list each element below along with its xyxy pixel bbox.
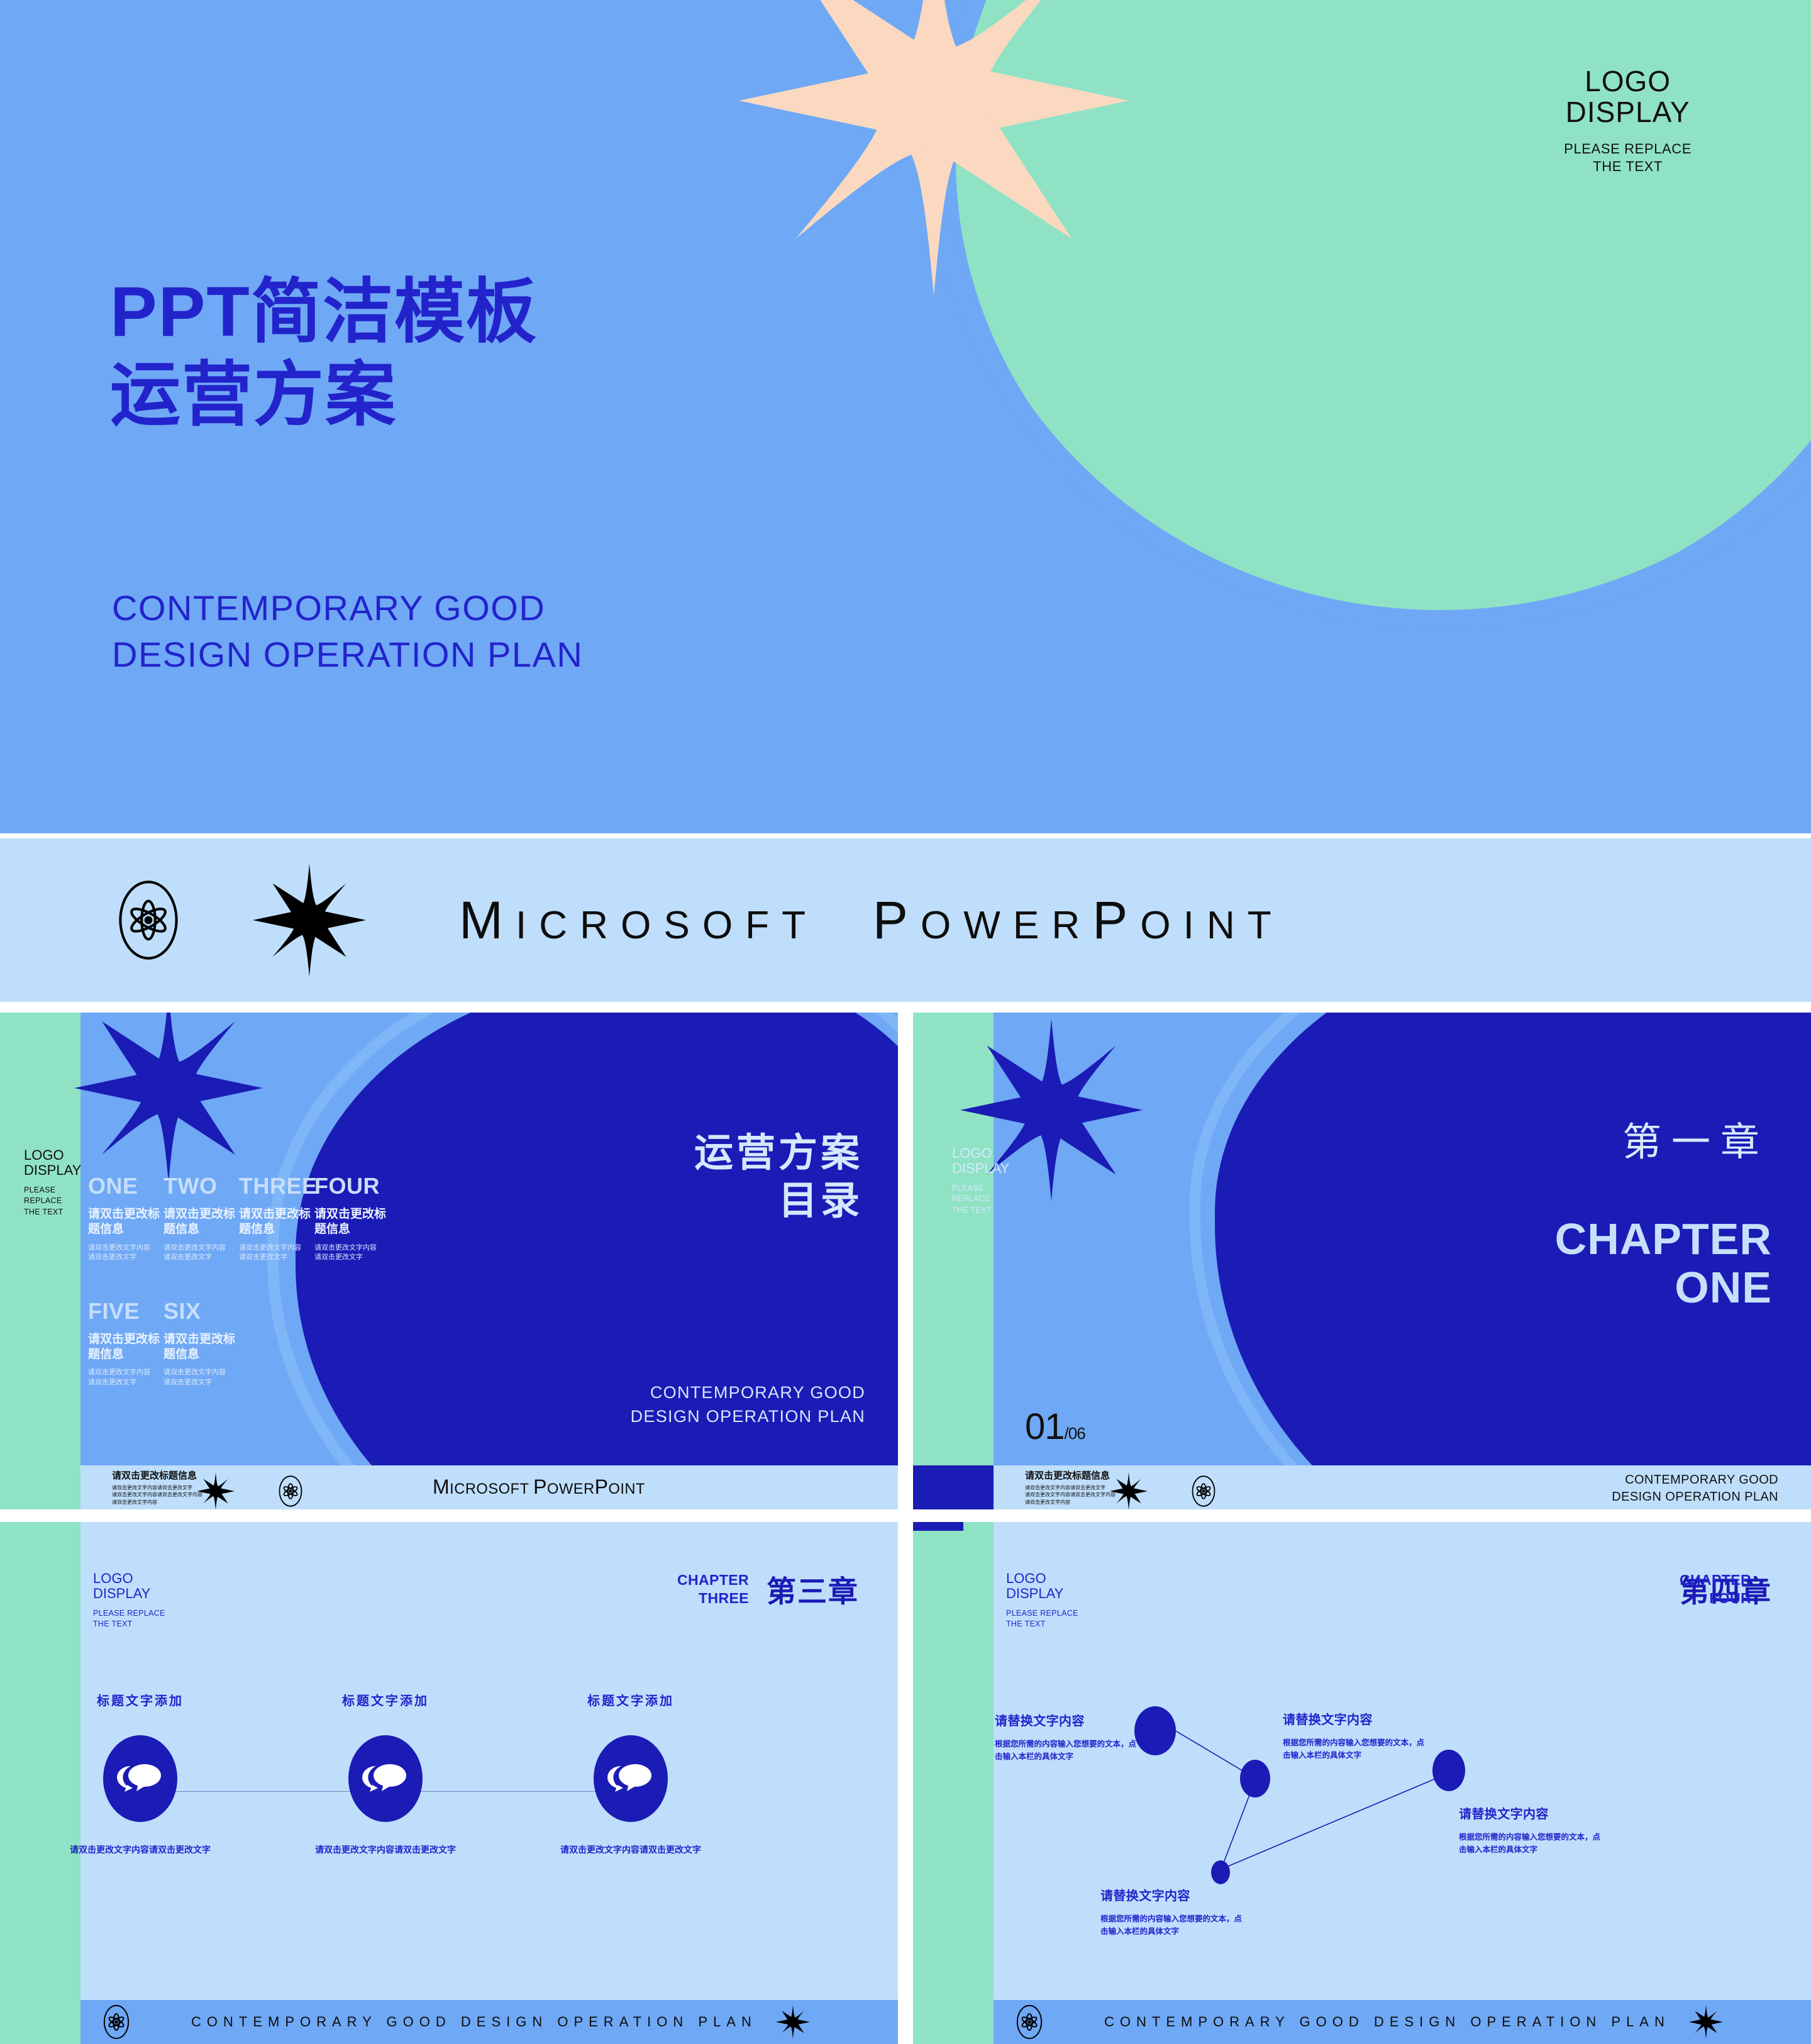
sparkle-icon [74, 1013, 263, 1182]
toc-row-2: FIVE 请双击更改标题信息 请双击更改文字内容 请双击更改文字 SIX 请双击… [88, 1298, 440, 1388]
toc-items: ONE 请双击更改标题信息 请双击更改文字内容 请双击更改文字 TWO 请双击更… [88, 1173, 440, 1388]
toc-item-desc1: 请双击更改文字内容 [239, 1243, 314, 1253]
sparkle-icon [739, 0, 1129, 296]
toc-title: 运营方案 目录 [694, 1130, 863, 1225]
hero-slide: LOGO DISPLAY PLEASE REPLACE THE TEXT PPT… [0, 0, 1811, 833]
toc-item-two[interactable]: TWO 请双击更改标题信息 请双击更改文字内容 请双击更改文字 [163, 1173, 239, 1263]
toc-item-title: 请双击更改标题信息 [88, 1207, 163, 1238]
ch1-footer-icons [1110, 1470, 1217, 1509]
ch1-footer-desc3: 请双击更改文字内容 [1025, 1499, 1116, 1506]
atom-icon [277, 1475, 304, 1508]
band-p2: P [1092, 891, 1140, 950]
node-title: 标题文字添加 [514, 1691, 747, 1709]
toc-row-1: ONE 请双击更改标题信息 请双击更改文字内容 请双击更改文字 TWO 请双击更… [88, 1173, 440, 1263]
ch4-node-title: 请替换文字内容 [995, 1711, 1139, 1729]
toc-item-number: THREE [239, 1173, 314, 1199]
toc-title-line2: 目录 [694, 1177, 863, 1225]
band-brand-text: MICROSOFT POWERPOINT [459, 890, 1284, 951]
network-node[interactable] [1134, 1706, 1176, 1755]
toc-item-title: 请双击更改标题信息 [239, 1207, 314, 1238]
ch1-logo-line2: DISPLAY [952, 1161, 1021, 1176]
toc-item-title: 请双击更改标题信息 [163, 1207, 239, 1238]
ch1-logo-sub2: THE TEXT [952, 1205, 1021, 1216]
timeline-node[interactable]: 标题文字添加 请双击更改文字内容请双击更改文字 [24, 1691, 257, 1857]
network-node[interactable] [1432, 1750, 1465, 1791]
toc-english-subtitle: CONTEMPORARY GOOD DESIGN OPERATION PLAN [631, 1380, 865, 1429]
sparkle-icon [253, 848, 366, 992]
sparkle-icon [1110, 1470, 1148, 1509]
network-caption: 请替换文字内容 根据您所需的内容输入您想要的文本，点击输入本栏的具体文字 [1100, 1886, 1245, 1938]
strip-text: CONTEMPORARY GOOD DESIGN OPERATION PLAN [1104, 2014, 1670, 2030]
toc-footer: 请双击更改标题信息 请双击更改文字内容请双击更改文字 请双击更改文字内容请双击更… [80, 1465, 898, 1509]
toc-item-title: 请双击更改标题信息 [88, 1332, 163, 1363]
ch1-footer-title: 请双击更改标题信息 [1025, 1469, 1116, 1482]
toc-logo-line2: DISPLAY [24, 1163, 87, 1178]
atom-icon [1190, 1475, 1217, 1508]
atom-icon [1015, 2004, 1044, 2040]
navy-corner-block [913, 1465, 994, 1509]
toc-item-five[interactable]: FIVE 请双击更改标题信息 请双击更改文字内容 请双击更改文字 [88, 1298, 163, 1388]
toc-eng-line2: DESIGN OPERATION PLAN [631, 1404, 865, 1428]
hero-logo-block: LOGO DISPLAY PLEASE REPLACE THE TEXT [1564, 66, 1692, 176]
chapter-three-timeline: 标题文字添加 请双击更改文字内容请双击更改文字 标题文字添加 [0, 1522, 898, 2044]
hero-title-line2: 运营方案 [110, 353, 538, 436]
network-node[interactable] [1211, 1860, 1230, 1884]
hero-title-line1: PPT简洁模板 [110, 270, 538, 353]
speech-bubble-icon [594, 1735, 668, 1822]
brand-m: M [433, 1475, 450, 1498]
chapter-three-slide: LOGO DISPLAY PLEASE REPLACE THE TEXT CHA… [0, 1522, 898, 2044]
toc-slide: LOGO DISPLAY PLEASE REPLACE THE TEXT 运营方… [0, 1013, 898, 1509]
toc-item-number: ONE [88, 1173, 163, 1199]
ch1-footer-title-block: 请双击更改标题信息 请双击更改文字内容请双击更改文字 请双击更改文字内容请双击更… [1025, 1469, 1116, 1506]
toc-item-desc2: 请双击更改文字 [88, 1378, 163, 1388]
brand-p1: P [533, 1475, 547, 1498]
green-rail [0, 1013, 80, 1509]
atom-icon [102, 2004, 131, 2040]
node-desc: 请双击更改文字内容请双击更改文字 [558, 1843, 703, 1857]
toc-item-desc2: 请双击更改文字 [88, 1253, 163, 1263]
sparkle-icon [197, 1470, 235, 1509]
atom-icon [114, 879, 182, 962]
chapter-one-logo-block: LOGO DISPLAY PLEASE REPLACE THE TEXT [952, 1146, 1021, 1216]
strip-text: CONTEMPORARY GOOD DESIGN OPERATION PLAN [191, 2014, 757, 2030]
timeline-node[interactable]: 标题文字添加 请双击更改文字内容请双击更改文字 [514, 1691, 747, 1857]
toc-item-title: 请双击更改标题信息 [314, 1207, 390, 1238]
hero-logo-line2: DISPLAY [1566, 96, 1690, 128]
ch4-node-title: 请替换文字内容 [1283, 1709, 1427, 1728]
toc-footer-brand: MICROSOFT POWERPOINT [433, 1475, 645, 1499]
toc-item-number: FOUR [314, 1173, 390, 1199]
chapter-four-slide: LOGO DISPLAY PLEASE REPLACE THE TEXT CHA… [913, 1522, 1811, 2044]
toc-footer-icons [197, 1470, 304, 1509]
hero-sub-line2: DESIGN OPERATION PLAN [112, 631, 583, 678]
sparkle-icon [1689, 2002, 1723, 2041]
page-title: PPT简洁模板 运营方案 [110, 270, 538, 436]
node-title: 标题文字添加 [269, 1691, 502, 1709]
ch4-node-title: 请替换文字内容 [1100, 1886, 1245, 1904]
node-desc: 请双击更改文字内容请双击更改文字 [68, 1843, 213, 1857]
toc-item-desc1: 请双击更改文字内容 [88, 1368, 163, 1378]
toc-item-title: 请双击更改标题信息 [163, 1332, 239, 1363]
toc-item-desc1: 请双击更改文字内容 [88, 1243, 163, 1253]
ch4-node-desc: 根据您所需的内容输入您想要的文本，点击输入本栏的具体文字 [1459, 1831, 1603, 1856]
network-caption: 请替换文字内容 根据您所需的内容输入您想要的文本，点击输入本栏的具体文字 [1283, 1709, 1427, 1762]
page-total: /06 [1065, 1424, 1085, 1443]
band-p1: P [873, 891, 921, 950]
toc-item-one[interactable]: ONE 请双击更改标题信息 请双击更改文字内容 请双击更改文字 [88, 1173, 163, 1263]
toc-item-desc2: 请双击更改文字 [163, 1253, 239, 1263]
toc-item-desc2: 请双击更改文字 [239, 1253, 314, 1263]
hero-subtitle: CONTEMPORARY GOOD DESIGN OPERATION PLAN [112, 585, 583, 678]
toc-footer-title: 请双击更改标题信息 [112, 1469, 202, 1482]
band-power-rest: OWER [921, 904, 1092, 947]
brand-p2: P [595, 1475, 609, 1498]
network-node[interactable] [1240, 1760, 1270, 1797]
brand-point-rest: OINT [608, 1481, 645, 1497]
toc-logo-block: LOGO DISPLAY PLEASE REPLACE THE TEXT [24, 1148, 87, 1218]
ch4-node-desc: 根据您所需的内容输入您想要的文本，点击输入本栏的具体文字 [995, 1738, 1139, 1763]
brand-power-rest: OWER [547, 1481, 595, 1497]
ch4-node-desc: 根据您所需的内容输入您想要的文本，点击输入本栏的具体文字 [1283, 1736, 1427, 1762]
ch4-node-desc: 根据您所需的内容输入您想要的文本，点击输入本栏的具体文字 [1100, 1913, 1245, 1938]
chapter-four-bottom-strip: CONTEMPORARY GOOD DESIGN OPERATION PLAN [994, 2000, 1811, 2044]
toc-title-line1: 运营方案 [694, 1130, 863, 1177]
brand-micro-rest: ICROSOFT [450, 1481, 533, 1497]
chapter-three-bottom-strip: CONTEMPORARY GOOD DESIGN OPERATION PLAN [80, 2000, 898, 2044]
chapter-one-footer: 请双击更改标题信息 请双击更改文字内容请双击更改文字 请双击更改文字内容请双击更… [994, 1465, 1811, 1509]
toc-item-number: TWO [163, 1173, 239, 1199]
band-micro-rest: ICROSOFT [516, 904, 818, 947]
toc-footer-desc2: 请双击更改文字内容请双击更改文字内容 [112, 1491, 202, 1498]
ch1-logo-line1: LOGO [952, 1146, 1021, 1161]
toc-item-desc1: 请双击更改文字内容 [163, 1368, 239, 1378]
toc-footer-desc1: 请双击更改文字内容请双击更改文字 [112, 1484, 202, 1491]
ch1-en-line2: ONE [1555, 1264, 1772, 1312]
hero-logo-sub2: THE TEXT [1564, 158, 1692, 176]
sparkle-icon [776, 2002, 810, 2041]
powerpoint-band: MICROSOFT POWERPOINT [0, 838, 1811, 1002]
toc-footer-title-block: 请双击更改标题信息 请双击更改文字内容请双击更改文字 请双击更改文字内容请双击更… [112, 1469, 202, 1506]
ch1-footer-english: CONTEMPORARY GOOD DESIGN OPERATION PLAN [1612, 1472, 1778, 1506]
node-desc: 请双击更改文字内容请双击更改文字 [313, 1843, 458, 1857]
speech-bubble-icon [348, 1735, 423, 1822]
toc-item-three[interactable]: THREE 请双击更改标题信息 请双击更改文字内容 请双击更改文字 [239, 1173, 314, 1263]
toc-item-four[interactable]: FOUR 请双击更改标题信息 请双击更改文字内容 请双击更改文字 [314, 1173, 390, 1263]
chapter-one-zh-title: 第一章 [1622, 1123, 1769, 1162]
band-m: M [459, 891, 516, 950]
ch4-node-title: 请替换文字内容 [1459, 1804, 1603, 1822]
toc-logo-line1: LOGO [24, 1148, 87, 1163]
ch1-logo-sub1: PLEASE REPLACE [952, 1183, 1021, 1206]
toc-footer-desc3: 请双击更改文字内容 [112, 1499, 202, 1506]
ch1-footer-eng2: DESIGN OPERATION PLAN [1612, 1489, 1778, 1506]
toc-item-desc1: 请双击更改文字内容 [163, 1243, 239, 1253]
chapter-one-en-title: CHAPTER ONE [1555, 1215, 1772, 1312]
hero-logo-line1: LOGO [1585, 65, 1671, 97]
hero-logo-sub1: PLEASE REPLACE [1564, 140, 1692, 158]
toc-logo-sub2: THE TEXT [24, 1207, 87, 1218]
network-caption: 请替换文字内容 根据您所需的内容输入您想要的文本，点击输入本栏的具体文字 [995, 1711, 1139, 1763]
chapter-one-slide: LOGO DISPLAY PLEASE REPLACE THE TEXT 第一章… [913, 1013, 1811, 1509]
timeline-node[interactable]: 标题文字添加 请双击更改文字内容请双击更改文字 [269, 1691, 502, 1857]
speech-bubble-icon [103, 1735, 177, 1822]
toc-logo-sub1: PLEASE REPLACE [24, 1185, 87, 1208]
ch1-footer-eng1: CONTEMPORARY GOOD [1612, 1472, 1778, 1489]
toc-item-desc2: 请双击更改文字 [163, 1378, 239, 1388]
band-point-rest: OINT [1140, 904, 1283, 947]
network-connectors [913, 1522, 1811, 2044]
chapter-one-page-number: 01/06 [1025, 1406, 1085, 1448]
toc-item-desc2: 请双击更改文字 [314, 1253, 390, 1263]
node-title: 标题文字添加 [24, 1691, 257, 1709]
ch1-footer-desc2: 请双击更改文字内容请双击更改文字内容 [1025, 1491, 1116, 1498]
toc-item-number: SIX [163, 1298, 239, 1325]
page-current: 01 [1025, 1406, 1065, 1447]
toc-item-number: FIVE [88, 1298, 163, 1325]
toc-item-six[interactable]: SIX 请双击更改标题信息 请双击更改文字内容 请双击更改文字 [163, 1298, 239, 1388]
ch1-footer-desc1: 请双击更改文字内容请双击更改文字 [1025, 1484, 1116, 1491]
toc-item-desc1: 请双击更改文字内容 [314, 1243, 390, 1253]
toc-eng-line1: CONTEMPORARY GOOD [631, 1380, 865, 1404]
network-caption: 请替换文字内容 根据您所需的内容输入您想要的文本，点击输入本栏的具体文字 [1459, 1804, 1603, 1856]
ch1-en-line1: CHAPTER [1555, 1215, 1772, 1264]
hero-sub-line1: CONTEMPORARY GOOD [112, 585, 583, 631]
